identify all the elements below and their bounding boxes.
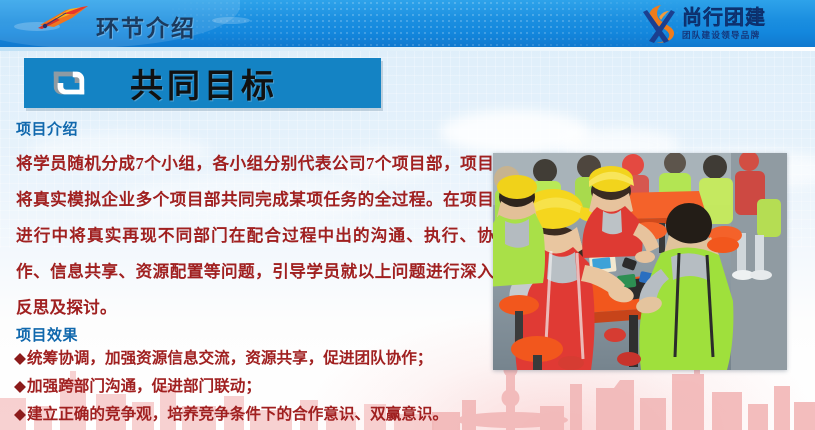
list-item-label: 统筹协调，加强资源信息交流，资源共享，促进团队协作； (27, 350, 432, 367)
interlocking-squares-icon (50, 64, 88, 102)
list-item-label: 加强跨部门沟通，促进部门联动； (27, 378, 261, 395)
bullet-diamond-icon: ◆ (14, 350, 26, 367)
list-item: ◆加强跨部门沟通，促进部门联动； (14, 373, 534, 401)
header-underline (0, 47, 815, 51)
effect-heading: 项目效果 (16, 324, 78, 345)
brand-logo: 尚行团建 团队建设领导品牌 (639, 2, 807, 46)
header-title: 环节介绍 (96, 9, 196, 43)
list-item: ◆建立正确的竞争观，培养竞争条件下的合作意识、双赢意识。 (14, 401, 534, 429)
logo-brand-name: 尚行团建 (682, 8, 766, 28)
photo-illustration (493, 153, 787, 370)
intro-heading: 项目介绍 (16, 118, 494, 139)
logo-slogan: 团队建设领导品牌 (682, 31, 766, 40)
intro-paragraph: 将学员随机分成7个小组，各小组分别代表公司7个项目部，项目将真实模拟企业多个项目… (16, 146, 494, 326)
slide-header: 环节介绍 尚行团建 团队建设领导品牌 (0, 0, 815, 47)
team-building-photo (493, 153, 787, 370)
header-dot-map-pattern (170, 0, 690, 47)
list-item-label: 建立正确的竞争观，培养竞争条件下的合作意识、双赢意识。 (27, 406, 448, 423)
section-title: 共同目标 (130, 59, 278, 107)
bullet-diamond-icon: ◆ (14, 406, 26, 423)
bullet-diamond-icon: ◆ (14, 378, 26, 395)
effects-list: ◆统筹协调，加强资源信息交流，资源共享，促进团队协作； ◆加强跨部门沟通，促进部… (14, 345, 534, 429)
header-ellipse-decoration (212, 17, 250, 24)
section-title-banner: 共同目标 (24, 58, 381, 108)
paraglider-icon (36, 4, 92, 30)
slide-canvas: 环节介绍 尚行团建 团队建设领导品牌 共同目标 项目介绍 将学员随机分成 (0, 0, 815, 430)
list-item: ◆统筹协调，加强资源信息交流，资源共享，促进团队协作； (14, 345, 534, 373)
intro-block: 项目介绍 将学员随机分成7个小组，各小组分别代表公司7个项目部，项目将真实模拟企… (16, 118, 494, 326)
shanghang-logo-mark (639, 3, 679, 45)
